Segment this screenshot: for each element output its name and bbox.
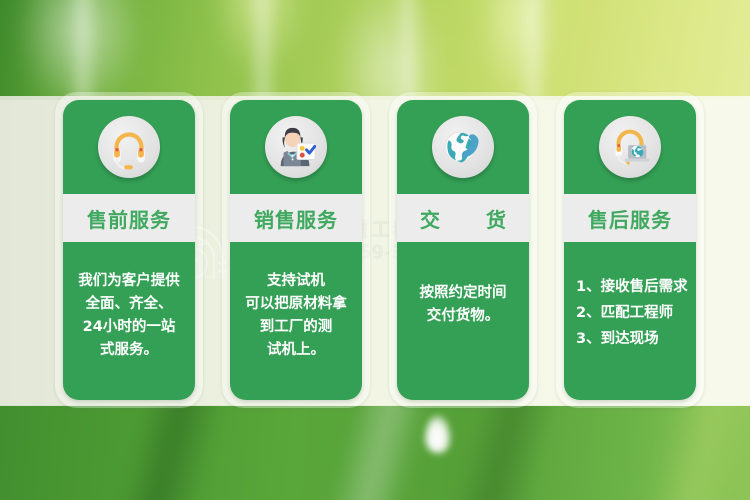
card-body-line: 全面、齐全、 <box>86 293 173 316</box>
card-body-line: 24小时的一站 <box>83 316 176 339</box>
service-card-pre-sales[interactable]: 售前服务 我们为客户提供 全面、齐全、 24小时的一站 式服务。 <box>63 100 195 400</box>
card-body-line: 1、接收售后需求 <box>576 274 688 300</box>
card-title: 交 货 <box>407 204 519 233</box>
card-list: 售前服务 我们为客户提供 全面、齐全、 24小时的一站 式服务。 <box>0 0 750 500</box>
card-icon-zone <box>63 100 195 194</box>
card-body: 我们为客户提供 全面、齐全、 24小时的一站 式服务。 <box>63 242 195 400</box>
card-title-band: 销售服务 <box>230 194 362 242</box>
card-icon-zone <box>230 100 362 194</box>
sales-agent-checklist-icon <box>265 116 327 178</box>
card-body-line: 到工厂的测 <box>260 316 333 339</box>
card-title: 售后服务 <box>588 204 672 233</box>
card-frame-after-sales[interactable]: 售后服务 1、接收售后需求 2、匹配工程师 3、到达现场 <box>556 92 704 408</box>
card-title-band: 售后服务 <box>564 194 696 242</box>
card-body: 1、接收售后需求 2、匹配工程师 3、到达现场 <box>564 242 696 400</box>
card-body-line: 我们为客户提供 <box>78 270 180 293</box>
card-frame-sales[interactable]: 销售服务 支持试机 可以把原材料拿 到工厂的测 试机上。 <box>222 92 370 408</box>
card-body-line: 试机上。 <box>267 339 325 362</box>
card-body-line: 可以把原材料拿 <box>245 293 347 316</box>
service-card-after-sales[interactable]: 售后服务 1、接收售后需求 2、匹配工程师 3、到达现场 <box>564 100 696 400</box>
headset-icon <box>98 116 160 178</box>
service-card-sales[interactable]: 销售服务 支持试机 可以把原材料拿 到工厂的测 试机上。 <box>230 100 362 400</box>
card-icon-zone <box>564 100 696 194</box>
service-card-delivery[interactable]: 交 货 按照约定时间 交付货物。 <box>397 100 529 400</box>
card-body-line: 式服务。 <box>100 339 158 362</box>
card-body-line: 按照约定时间 <box>420 282 507 305</box>
service-cards-banner: HUAZHIQIANG 郑州华之强重工科技有限公司 微信/电话：159-3877… <box>0 0 750 500</box>
card-body: 按照约定时间 交付货物。 <box>397 242 529 400</box>
card-body: 支持试机 可以把原材料拿 到工厂的测 试机上。 <box>230 242 362 400</box>
card-title: 销售服务 <box>254 204 338 233</box>
card-frame-delivery[interactable]: 交 货 按照约定时间 交付货物。 <box>389 92 537 408</box>
card-body-line: 3、到达现场 <box>576 326 659 352</box>
card-title-band: 交 货 <box>397 194 529 242</box>
card-title-band: 售前服务 <box>63 194 195 242</box>
card-icon-zone <box>397 100 529 194</box>
headset-laptop-globe-icon <box>599 116 661 178</box>
card-title: 售前服务 <box>87 204 171 233</box>
card-body-line: 2、匹配工程师 <box>576 300 673 326</box>
card-body-line: 交付货物。 <box>427 305 500 328</box>
card-body-line: 支持试机 <box>267 270 325 293</box>
globe-phone-icon <box>432 116 494 178</box>
card-frame-pre-sales[interactable]: 售前服务 我们为客户提供 全面、齐全、 24小时的一站 式服务。 <box>55 92 203 408</box>
